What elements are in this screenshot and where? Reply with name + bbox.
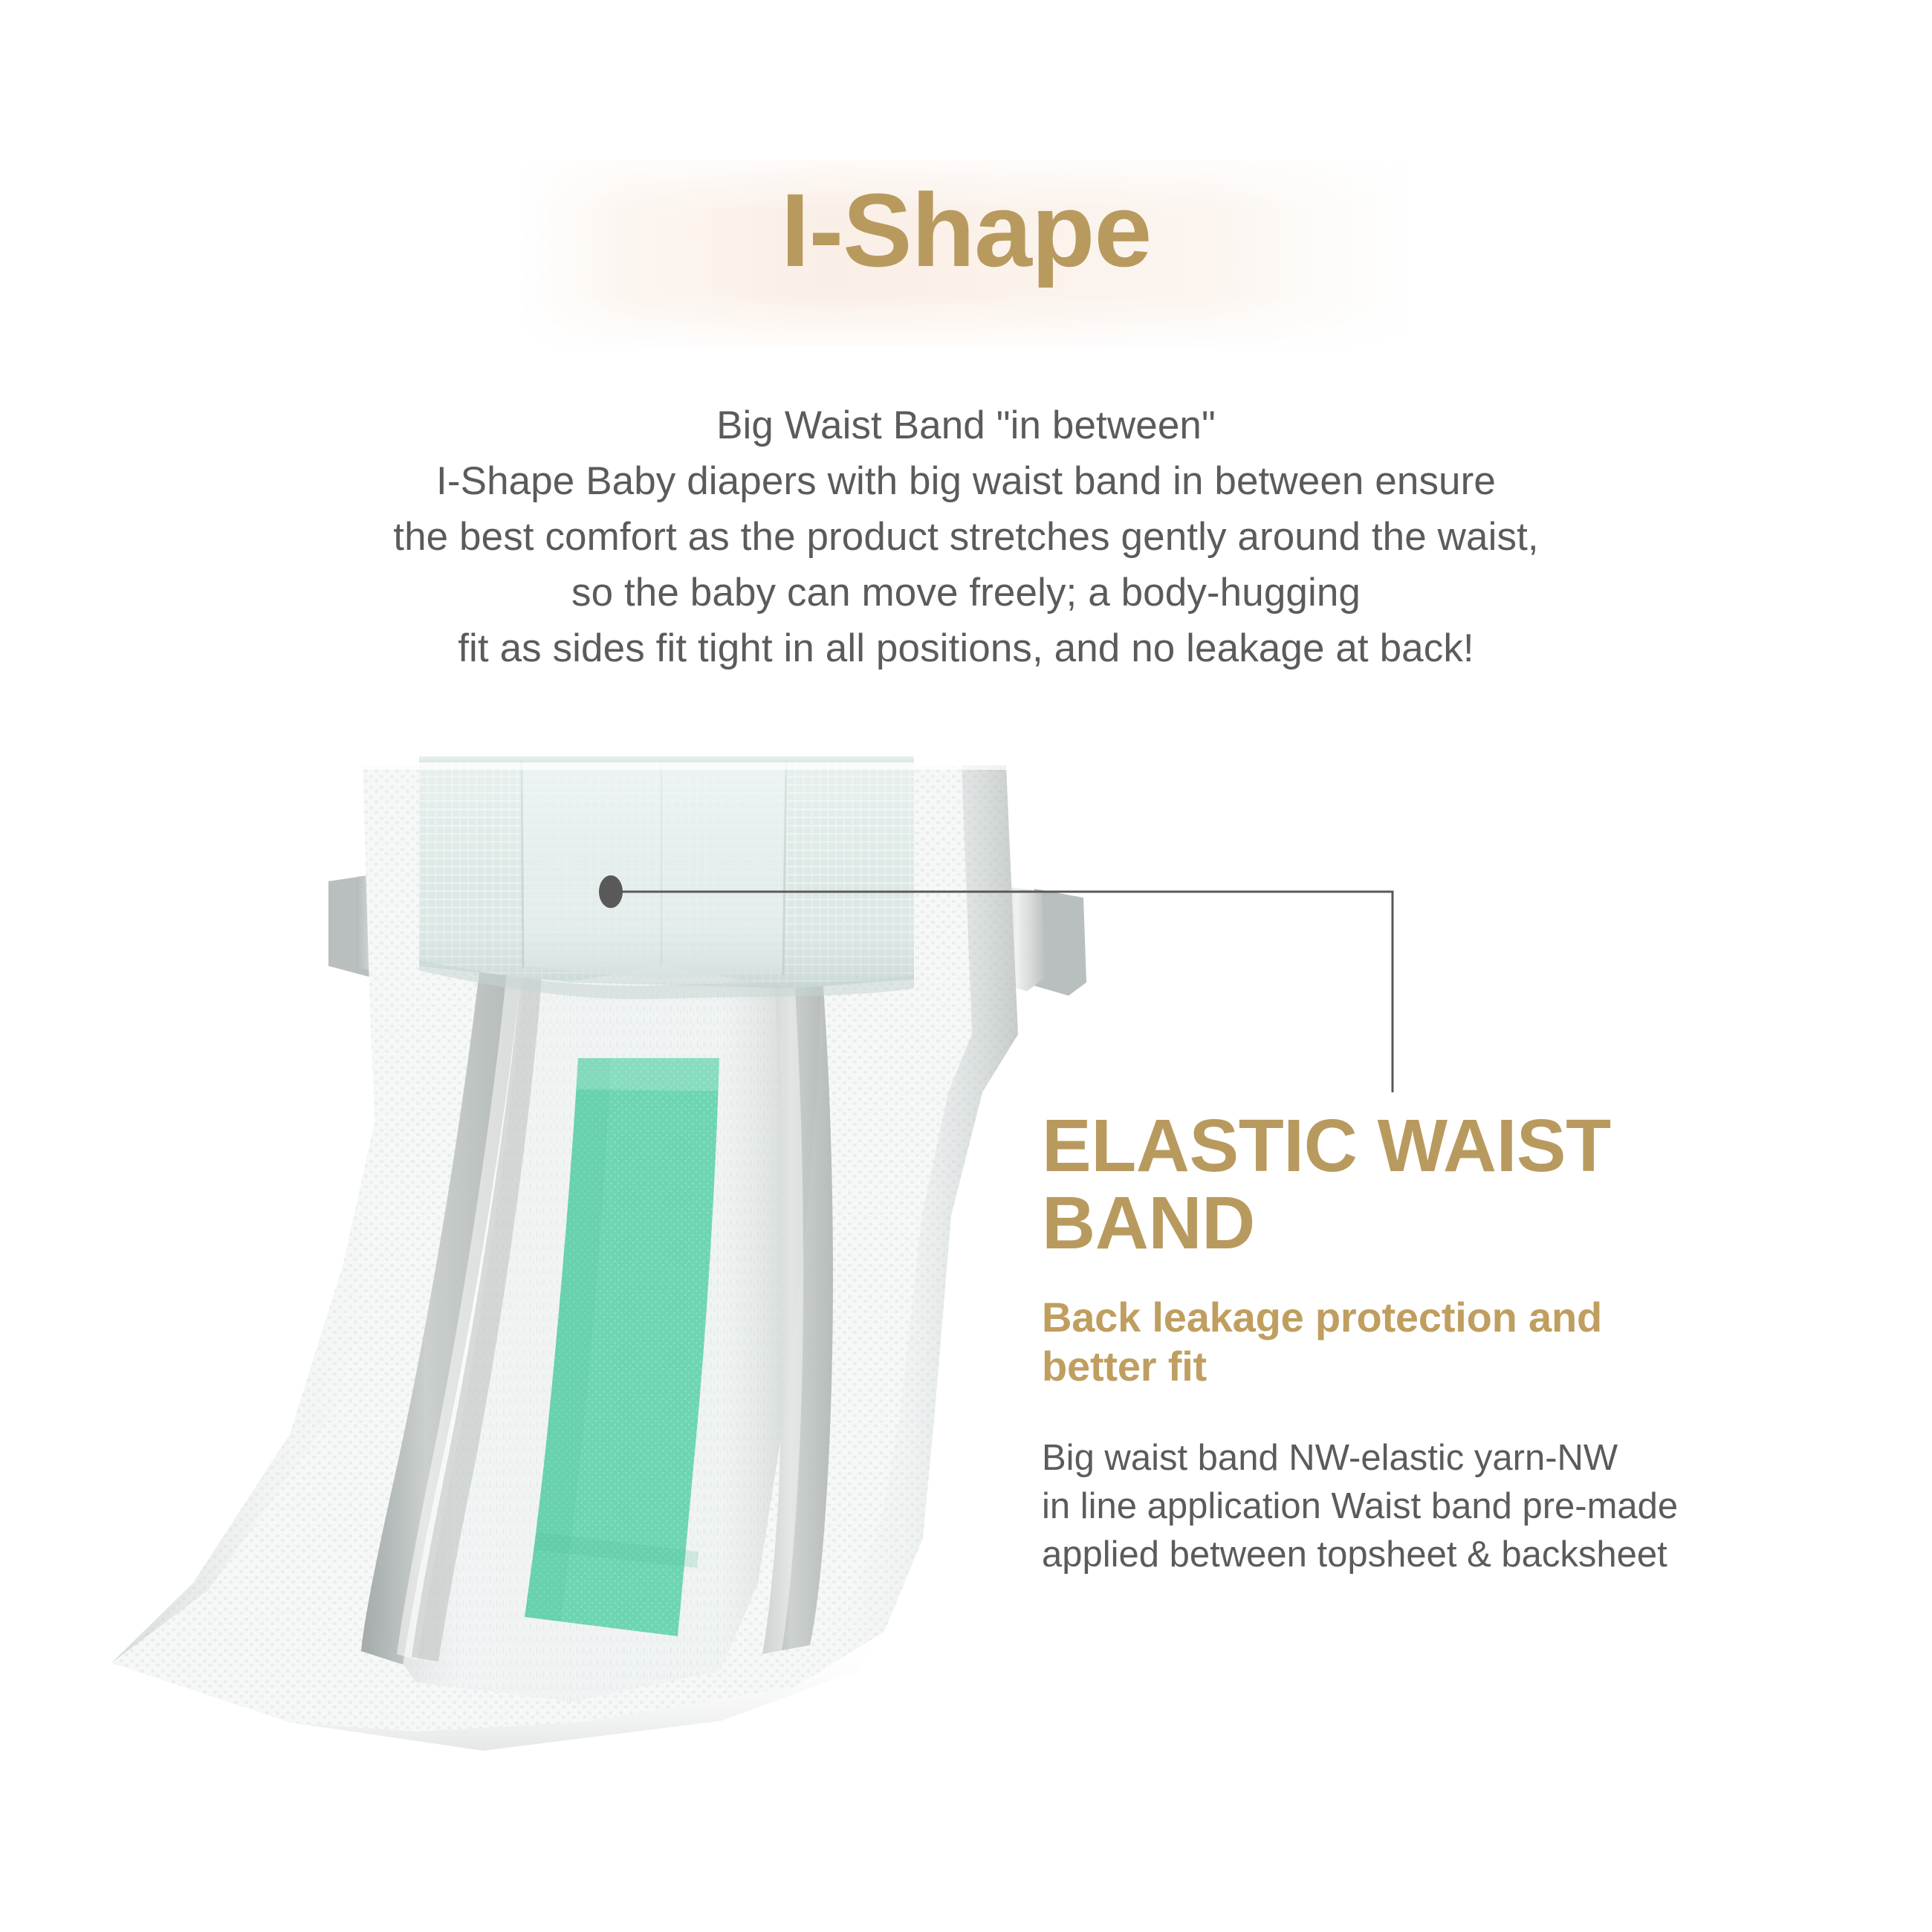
intro-line-4: so the baby can move freely; a body-hugg… [0, 565, 1932, 620]
infographic-canvas: I-Shape Big Waist Band "in between" I-Sh… [0, 0, 1932, 1932]
callout-text-block: ELASTIC WAIST BAND Back leakage protecti… [1042, 1107, 1815, 1579]
diaper-illustration [67, 743, 1122, 1798]
intro-line-3: the best comfort as the product stretche… [0, 509, 1932, 565]
page-title: I-Shape [0, 178, 1932, 282]
callout-body: Big waist band NW-elastic yarn-NW in lin… [1042, 1434, 1792, 1579]
intro-paragraph: Big Waist Band "in between" I-Shape Baby… [0, 398, 1932, 676]
intro-line-2: I-Shape Baby diapers with big waist band… [0, 453, 1932, 509]
callout-subtitle-line-1: Back leakage protection [1042, 1294, 1517, 1341]
callout-body-line-3: applied between topsheet & backsheet [1042, 1531, 1792, 1579]
callout-title: ELASTIC WAIST BAND [1042, 1107, 1696, 1262]
callout-body-line-1: Big waist band NW-elastic yarn-NW [1042, 1434, 1792, 1482]
intro-line-5: fit as sides fit tight in all positions,… [0, 620, 1932, 676]
callout-body-line-2: in line application Waist band pre-made [1042, 1482, 1792, 1531]
intro-line-1: Big Waist Band "in between" [0, 398, 1932, 453]
callout-subtitle: Back leakage protection and better fit [1042, 1293, 1659, 1391]
elastic-waist-band [419, 759, 914, 999]
